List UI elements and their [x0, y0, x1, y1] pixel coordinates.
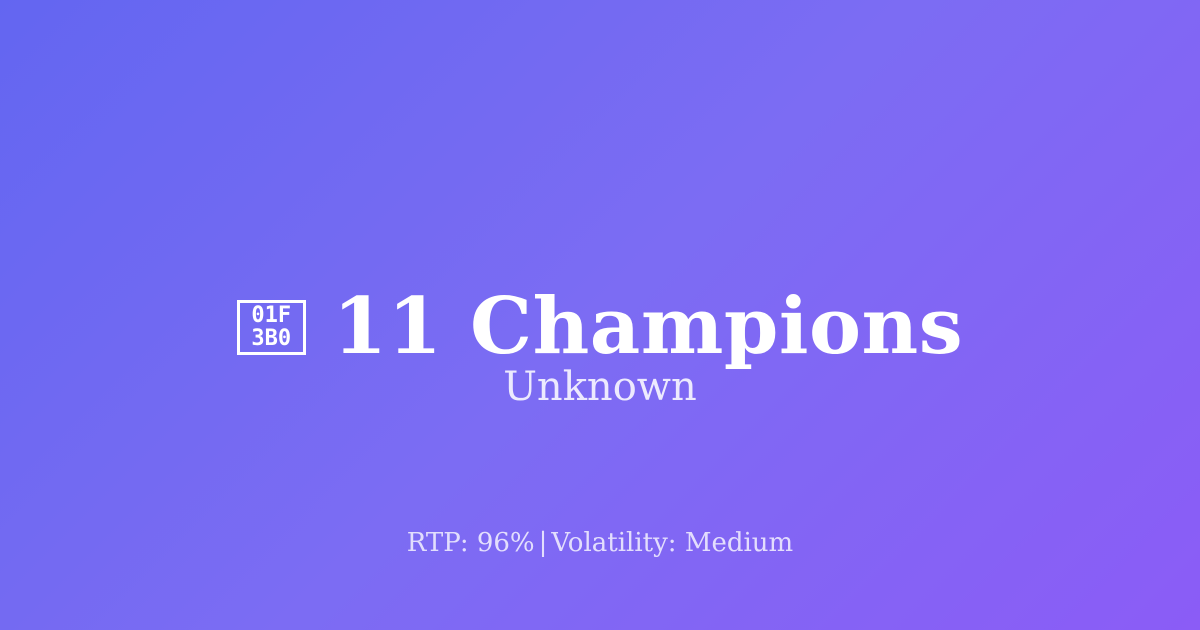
- slot-machine-icon: 01F 3B0: [237, 300, 306, 355]
- tofu-codepoint-top: 01F: [251, 304, 291, 327]
- game-stats-line: RTP: 96%|Volatility: Medium: [0, 527, 1200, 559]
- rtp-value: RTP: 96%: [407, 528, 535, 558]
- game-provider-subtitle: Unknown: [0, 363, 1200, 411]
- og-share-card: 01F 3B0 11 Champions Unknown RTP: 96%|Vo…: [0, 0, 1200, 630]
- volatility-value: Volatility: Medium: [551, 528, 793, 558]
- page-title: 11 Champions: [333, 284, 963, 370]
- stats-separator: |: [535, 528, 552, 558]
- tofu-codepoint-bottom: 3B0: [251, 327, 291, 350]
